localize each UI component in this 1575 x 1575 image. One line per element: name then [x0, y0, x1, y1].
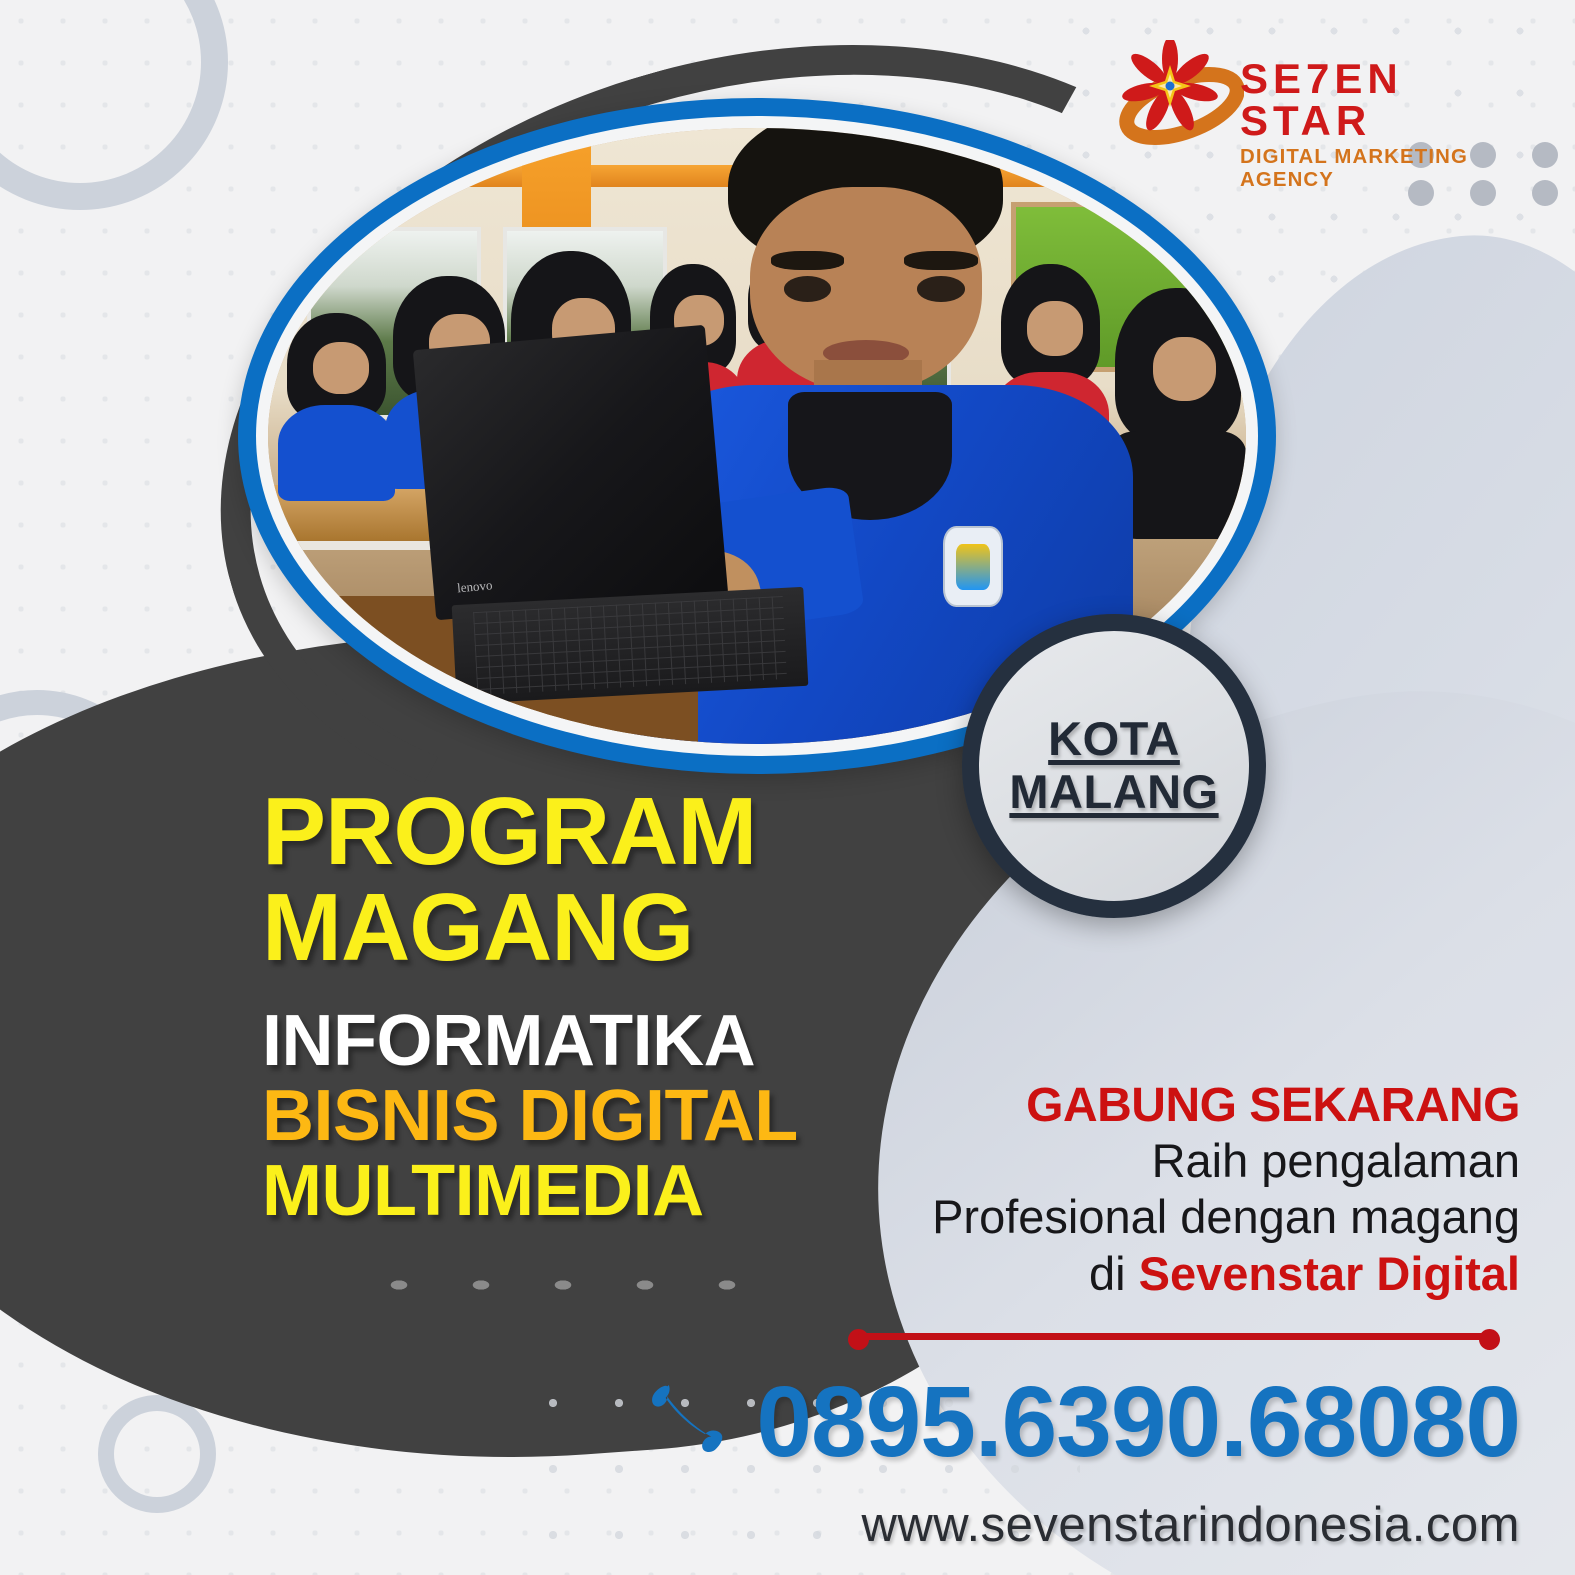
city-badge-line1: KOTA [1048, 713, 1180, 766]
website-url[interactable]: www.sevenstarindonesia.com [600, 1497, 1520, 1553]
brand-tagline: DIGITAL MARKETING AGENCY [1240, 146, 1517, 192]
decorative-dot [1532, 180, 1558, 206]
decorative-dot [1532, 142, 1558, 168]
city-badge: KOTA MALANG [962, 614, 1266, 918]
phone-number[interactable]: 0895.6390.68080 [756, 1372, 1520, 1472]
cta-line-3: di Sevenstar Digital [800, 1246, 1520, 1302]
cta-line-2: Profesional dengan magang [800, 1189, 1520, 1245]
divider-cap-right [1479, 1329, 1500, 1350]
cta-title: GABUNG SEKARANG [800, 1078, 1520, 1133]
cta-line-3-brand: Sevenstar Digital [1139, 1247, 1520, 1300]
contact-phone-row[interactable]: 0895.6390.68080 [600, 1372, 1520, 1472]
headline-line-1: PROGRAM [262, 786, 902, 878]
headline-line-2: MAGANG [262, 882, 902, 974]
brand-name: SE7EN STAR [1240, 58, 1512, 142]
seven-star-flower-icon [1112, 40, 1244, 152]
phone-handset-icon [644, 1379, 730, 1465]
panel-dot-grid [358, 1262, 778, 1326]
laptop-brand-label: lenovo [457, 578, 494, 597]
laptop-screen: lenovo [413, 325, 729, 621]
city-badge-line2: MALANG [1009, 766, 1218, 819]
divider-bar [858, 1333, 1490, 1340]
headline-sub-informatika: INFORMATIKA [262, 1004, 902, 1079]
decorative-ring-bottomleft [98, 1395, 216, 1513]
cta-line-1: Raih pengalaman [800, 1133, 1520, 1189]
cta-block: GABUNG SEKARANG Raih pengalaman Profesio… [800, 1078, 1520, 1302]
red-divider [848, 1329, 1500, 1343]
cta-line-3-prefix: di [1089, 1247, 1139, 1300]
laptop-keyboard [451, 587, 808, 704]
brand-logo: SE7EN STAR DIGITAL MARKETING AGENCY [1112, 40, 1512, 156]
poster-canvas: lenovo [0, 0, 1575, 1575]
decorative-ring-topleft [0, 0, 228, 210]
